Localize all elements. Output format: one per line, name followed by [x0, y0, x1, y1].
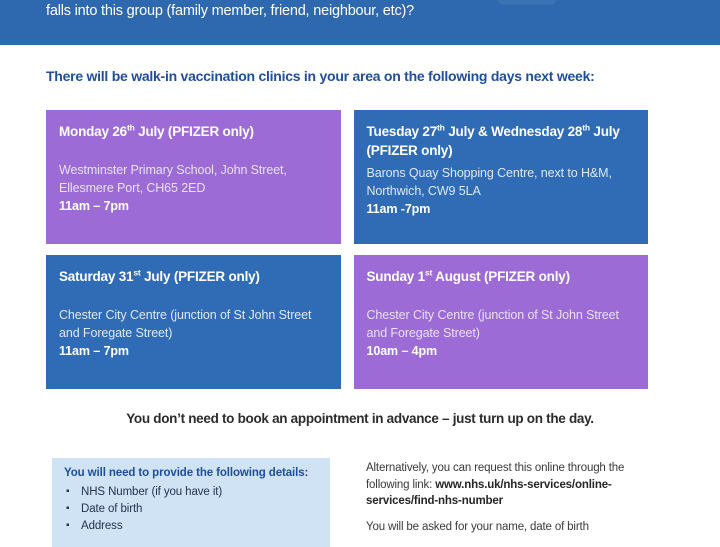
required-details-heading: You will need to provide the following d…: [64, 467, 318, 479]
intro-heading: There will be walk-in vaccination clinic…: [46, 68, 696, 84]
clinic-venue: Barons Quay Shopping Centre, next to H&M…: [367, 164, 636, 200]
clinic-day: Monday 26: [59, 124, 127, 139]
clinic-day-rest: July (PFIZER only): [141, 269, 260, 284]
clinic-cards-grid: Monday 26th July (PFIZER only) Westminst…: [46, 110, 648, 400]
clinic-ordinal: th: [437, 123, 445, 133]
clinic-time: 11am -7pm: [367, 200, 636, 218]
clinic-time: 11am – 7pm: [59, 342, 328, 360]
clinic-card-title: Sunday 1st August (PFIZER only): [367, 267, 636, 286]
clinic-card-title: Tuesday 27th July & Wednesday 28th July …: [367, 122, 636, 160]
clinic-day-rest: August (PFIZER only): [432, 269, 570, 284]
alternative-online-column: Alternatively, you can request this onli…: [366, 460, 656, 544]
no-booking-required-text: You don’t need to book an appointment in…: [0, 411, 720, 426]
clinic-time: 10am – 4pm: [367, 342, 636, 360]
list-item: Address: [64, 518, 318, 535]
clinic-card-title: Monday 26th July (PFIZER only): [59, 122, 328, 141]
clinic-card-row-2: Saturday 31st July (PFIZER only) Chester…: [46, 255, 648, 389]
clinic-day: Saturday 31: [59, 269, 133, 284]
clinic-venue: Chester City Centre (junction of St John…: [59, 306, 328, 342]
clinic-venue: Chester City Centre (junction of St John…: [367, 306, 636, 342]
clinic-day: Tuesday 27: [367, 124, 438, 139]
clinic-card-tuesday-wednesday[interactable]: Tuesday 27th July & Wednesday 28th July …: [354, 110, 649, 244]
clinic-card-title: Saturday 31st July (PFIZER only): [59, 267, 328, 286]
clinic-venue: Westminster Primary School, John Street,…: [59, 161, 328, 197]
list-item: Date of birth: [64, 501, 318, 518]
clinic-ordinal-2: th: [582, 123, 590, 133]
alternative-online-paragraph: Alternatively, you can request this onli…: [366, 460, 656, 510]
top-blue-banner: falls into this group (family member, fr…: [0, 0, 720, 45]
banner-question-text: falls into this group (family member, fr…: [46, 2, 686, 21]
clinic-ordinal: st: [133, 268, 140, 278]
clinic-card-saturday[interactable]: Saturday 31st July (PFIZER only) Chester…: [46, 255, 341, 389]
clinic-ordinal: th: [127, 123, 135, 133]
clinic-card-row-1: Monday 26th July (PFIZER only) Westminst…: [46, 110, 648, 244]
clinic-card-sunday[interactable]: Sunday 1st August (PFIZER only) Chester …: [354, 255, 649, 389]
required-details-list: NHS Number (if you have it) Date of birt…: [64, 484, 318, 535]
list-item: NHS Number (if you have it): [64, 484, 318, 501]
required-details-box: You will need to provide the following d…: [52, 458, 330, 547]
clinic-day: Sunday 1: [367, 269, 425, 284]
clinic-time: 11am – 7pm: [59, 197, 328, 215]
clinic-day-rest: July & Wednesday 28: [445, 124, 583, 139]
asked-for-details-text: You will be asked for your name, date of…: [366, 519, 656, 536]
clinic-day-rest: July (PFIZER only): [135, 124, 254, 139]
clinic-card-monday[interactable]: Monday 26th July (PFIZER only) Westminst…: [46, 110, 341, 244]
